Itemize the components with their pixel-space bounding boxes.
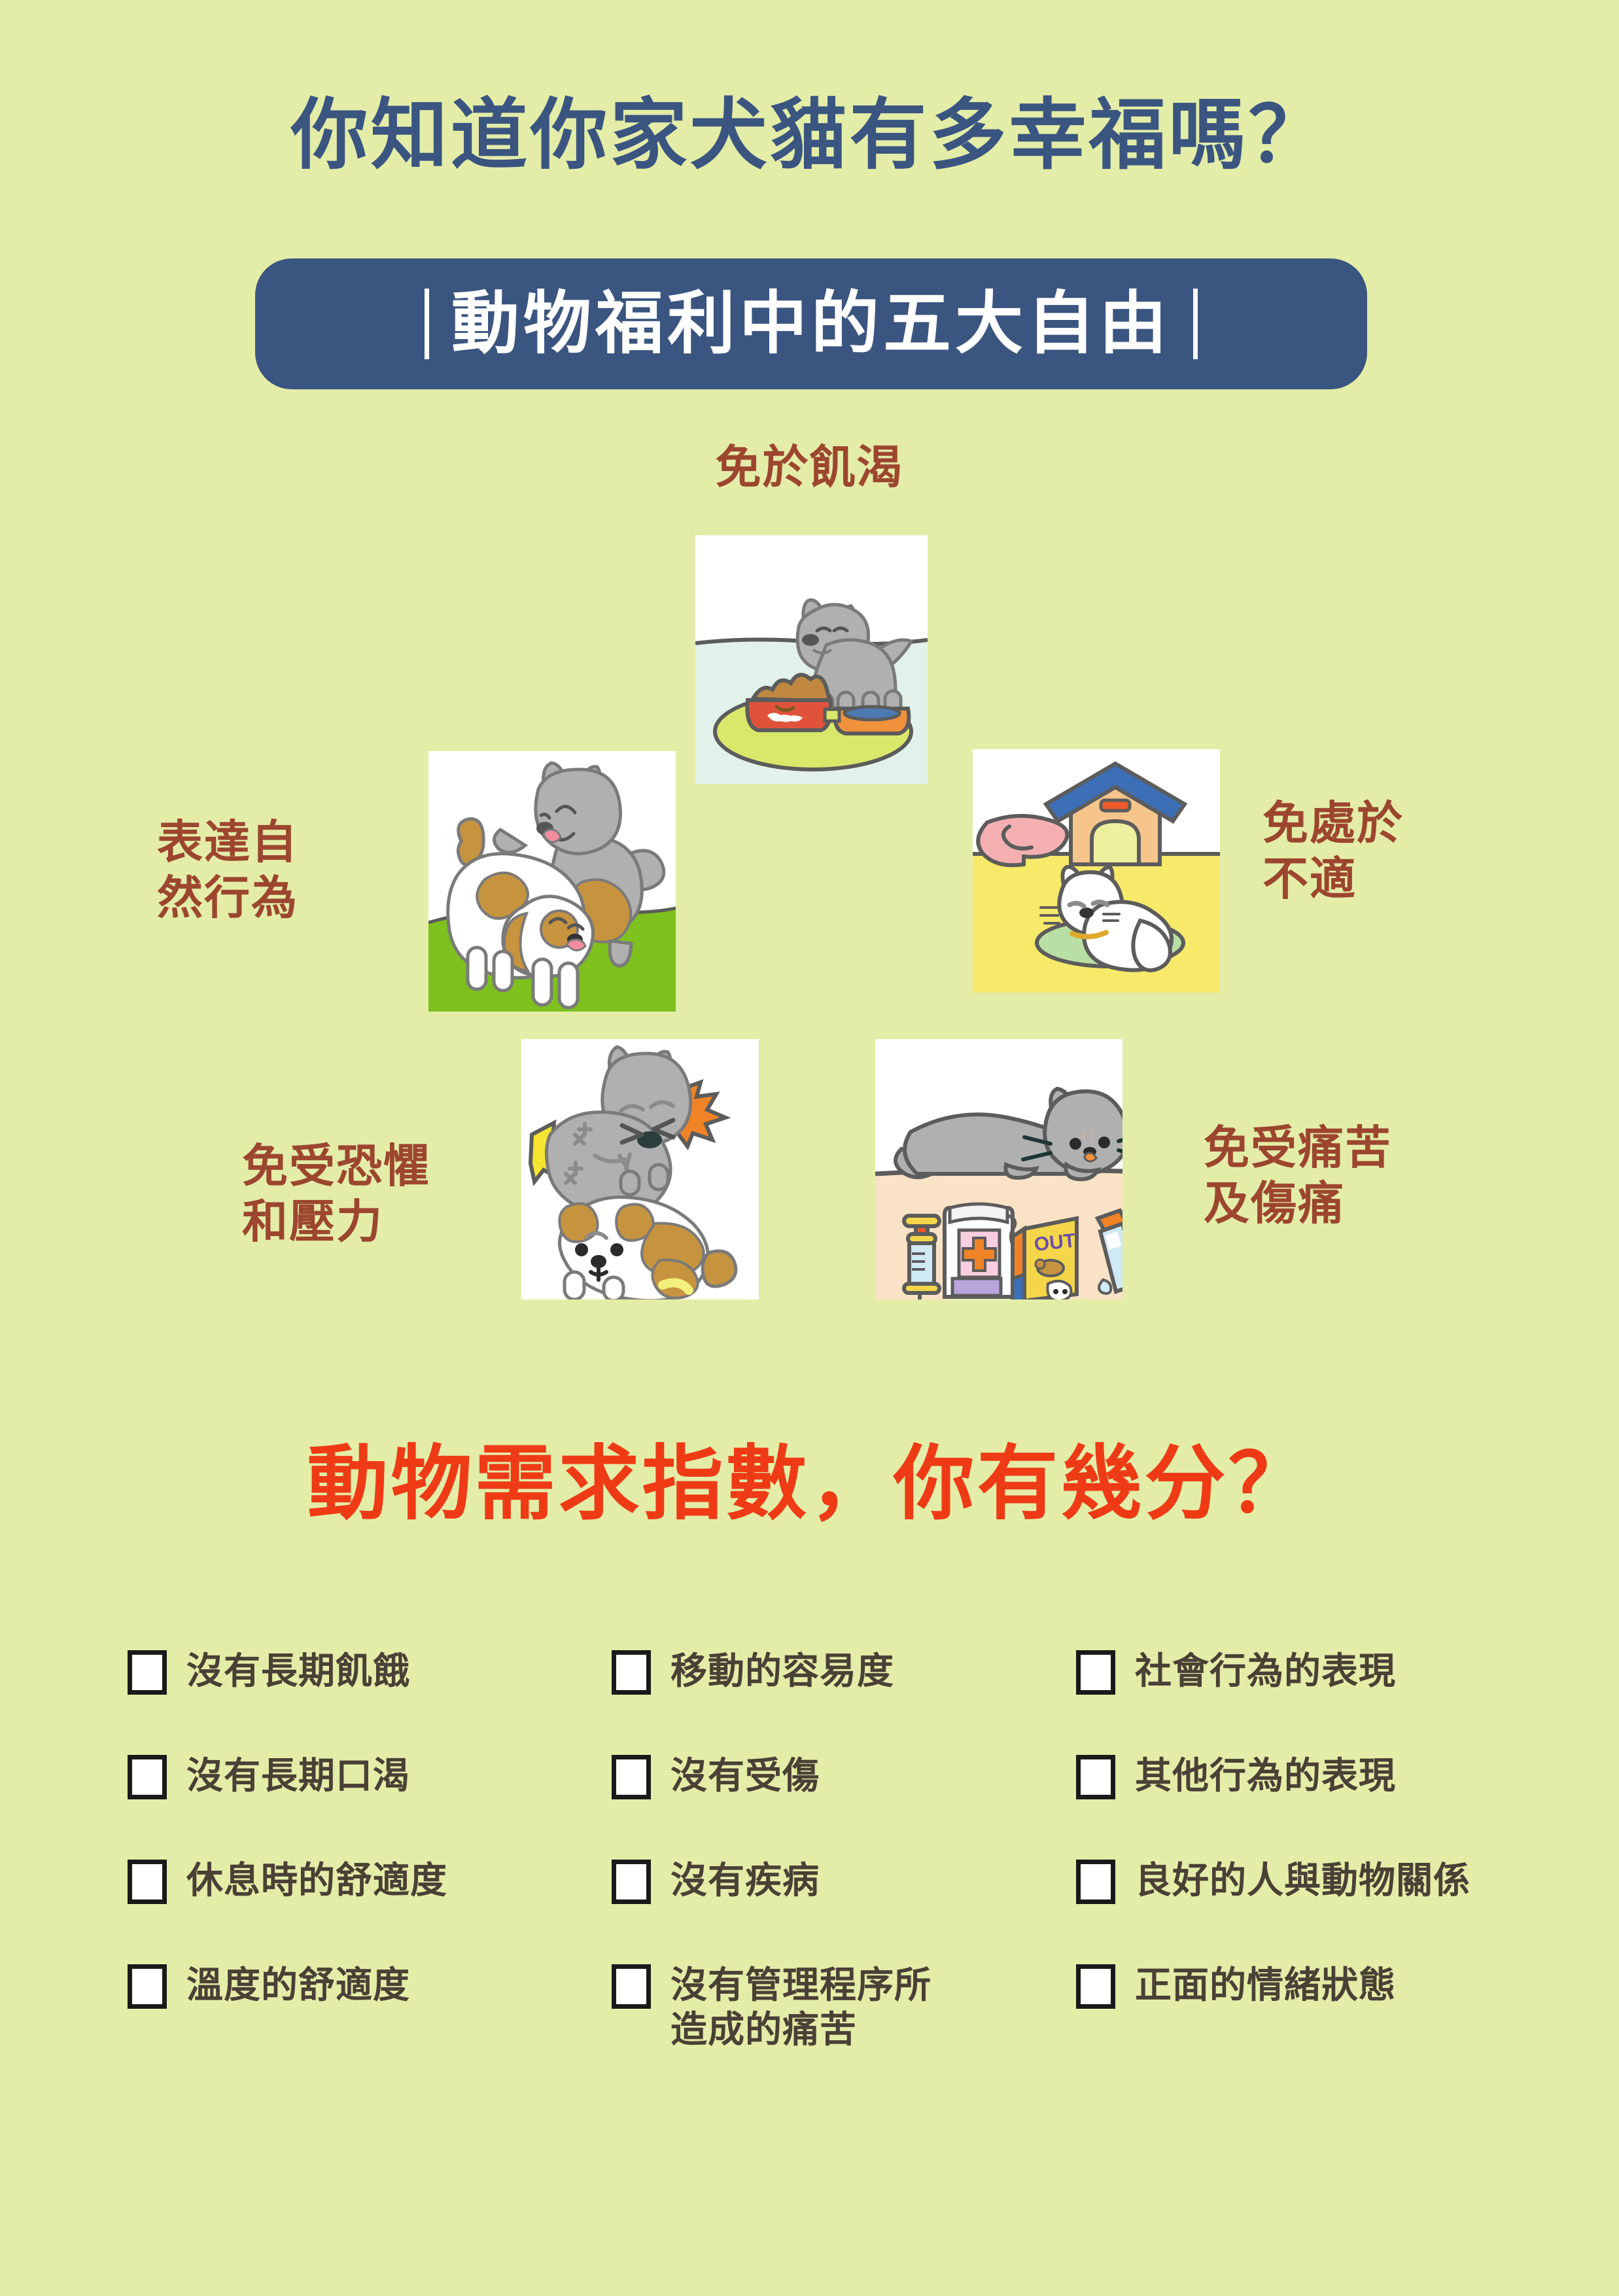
checkbox-icon[interactable] — [612, 1755, 651, 1799]
checklist-item[interactable]: 社會行為的表現 — [1076, 1649, 1521, 1754]
checkbox-icon[interactable] — [1076, 1860, 1115, 1904]
illustration-two-stressed-dogs-with-star-bursts — [521, 1039, 759, 1299]
checklist-item-label: 沒有長期飢餓 — [186, 1649, 410, 1693]
illustration-two-dogs-playing-on-grass — [428, 751, 676, 1012]
checkbox-icon[interactable] — [1076, 1650, 1115, 1695]
checklist-item-label: 沒有受傷 — [670, 1754, 820, 1798]
banner-title: 動物福利中的五大自由 — [451, 290, 1171, 358]
checklist-item[interactable]: 良好的人與動物關係 — [1076, 1858, 1521, 1963]
checkbox-icon[interactable] — [128, 1650, 167, 1695]
checklist-item-label: 社會行為的表現 — [1135, 1649, 1396, 1693]
checkbox-icon[interactable] — [128, 1964, 167, 2009]
checkbox-icon[interactable] — [128, 1860, 167, 1904]
checklist-item-label: 沒有長期口渴 — [186, 1754, 410, 1798]
checkbox-icon[interactable] — [128, 1755, 167, 1799]
checklist-item[interactable]: 沒有長期口渴 — [128, 1754, 612, 1858]
checklist-item[interactable]: 溫度的舒適度 — [128, 1963, 612, 2068]
banner-divider-left-icon — [425, 289, 429, 359]
checkbox-icon[interactable] — [1076, 1755, 1115, 1799]
freedom-label-natural-behaviour: 表達自 然行為 — [157, 815, 432, 927]
freedom-label-fear-stress: 免受恐懼 和壓力 — [242, 1139, 523, 1250]
checklist-item-label: 溫度的舒適度 — [186, 1963, 410, 2007]
banner-divider-right-icon — [1193, 289, 1198, 359]
checklist-item-label: 其他行為的表現 — [1135, 1754, 1396, 1798]
svg-text:OUT: OUT — [1033, 1230, 1076, 1256]
checklist-item-label: 良好的人與動物關係 — [1135, 1858, 1471, 1903]
checkbox-icon[interactable] — [1076, 1964, 1115, 2009]
checklist-item[interactable]: 沒有疾病 — [612, 1858, 1076, 1963]
checklist-item[interactable]: 移動的容易度 — [612, 1649, 1076, 1754]
freedom-label-discomfort: 免處於 不適 — [1262, 796, 1563, 908]
checklist-item-label: 沒有疾病 — [670, 1858, 820, 1903]
needs-index-checklist: 沒有長期飢餓 移動的容易度 社會行為的表現 沒有長期口渴 沒有受傷 其他行為的表… — [128, 1649, 1521, 2068]
checklist-item-label: 休息時的舒適度 — [186, 1858, 447, 1903]
illustration-cat-resting-by-kennel-and-cushion — [973, 749, 1220, 993]
checklist-item[interactable]: 沒有受傷 — [612, 1754, 1076, 1858]
checkbox-icon[interactable] — [612, 1650, 651, 1695]
checklist-item[interactable]: 其他行為的表現 — [1076, 1754, 1521, 1858]
checkbox-icon[interactable] — [612, 1964, 651, 2009]
freedom-label-hunger-thirst: 免於飢渴 — [0, 440, 1619, 495]
checklist-item-label: 沒有管理程序所 造成的痛苦 — [670, 1963, 931, 2053]
checklist-item[interactable]: 沒有長期飢餓 — [128, 1649, 612, 1754]
illustration-cat-lying-with-medicine-supplies: OUT — [875, 1039, 1123, 1299]
subtitle-banner: 動物福利中的五大自由 — [255, 258, 1367, 389]
checklist-item[interactable]: 休息時的舒適度 — [128, 1858, 612, 1963]
poster-root: 你知道你家犬貓有多幸福嗎？ 動物福利中的五大自由 免於飢渴 — [0, 0, 1619, 2296]
page-title: 你知道你家犬貓有多幸福嗎？ — [0, 92, 1619, 181]
checklist-item[interactable]: 沒有管理程序所 造成的痛苦 — [612, 1963, 1076, 2068]
illustration-dog-eating-food-and-water-bowls — [695, 535, 928, 784]
checkbox-icon[interactable] — [612, 1860, 651, 1904]
freedom-label-pain-injury: 免受痛苦 及傷痛 — [1204, 1120, 1511, 1232]
checklist-heading: 動物需求指數，你有幾分？ — [0, 1439, 1619, 1528]
checklist-item-label: 移動的容易度 — [670, 1649, 894, 1693]
checklist-item[interactable]: 正面的情緒狀態 — [1076, 1963, 1521, 2068]
checklist-item-label: 正面的情緒狀態 — [1135, 1963, 1396, 2007]
